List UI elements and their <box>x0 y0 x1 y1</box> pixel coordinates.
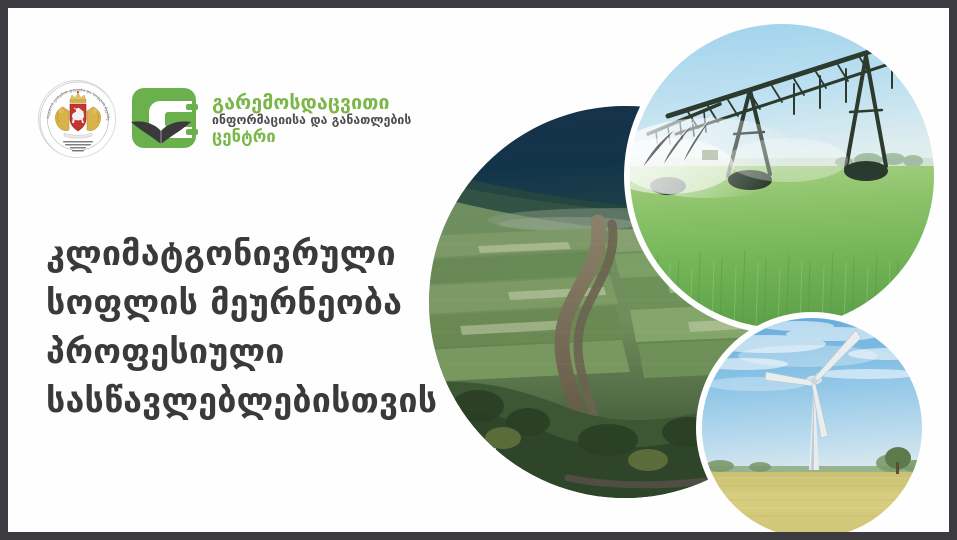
logo-lockup: საქართველოს გარემოს დაცვისა და სოფლის მე… <box>38 80 411 158</box>
slide-canvas: საქართველოს გარემოს დაცვისა და სოფლის მე… <box>8 8 949 532</box>
logo-wordmark-line3: ცენტრი <box>212 128 411 145</box>
pivot-irrigation-wheat-field-photo <box>602 22 938 331</box>
page-title-line4: სასწავლებლებისთვის <box>46 377 476 426</box>
page-title-line2: სოფლის მეურნეობა <box>46 279 476 328</box>
logo-wordmark: გარემოსდაცვითი ინფორმაციისა და განათლები… <box>212 93 411 145</box>
page-title-line3: პროფესიული <box>46 328 476 377</box>
page-title-line1: კლიმატგონივრული <box>46 230 476 279</box>
logo-wordmark-line2: ინფორმაციისა და განათლების <box>212 114 411 127</box>
logo-wordmark-line1: გარემოსდაცვითი <box>212 93 411 113</box>
aerial-farmland-valley-photo <box>423 100 833 500</box>
page-title: კლიმატგონივრული სოფლის მეურნეობა პროფესი… <box>46 230 476 426</box>
open-book-logo-icon <box>130 84 198 154</box>
wind-turbine-field-photo <box>698 314 928 532</box>
slide-root: საქართველოს გარემოს დაცვისა და სოფლის მე… <box>0 0 957 540</box>
ministry-of-environmental-protection-and-agriculture-of-georgia-emblem: საქართველოს გარემოს დაცვისა და სოფლის მე… <box>38 80 116 158</box>
